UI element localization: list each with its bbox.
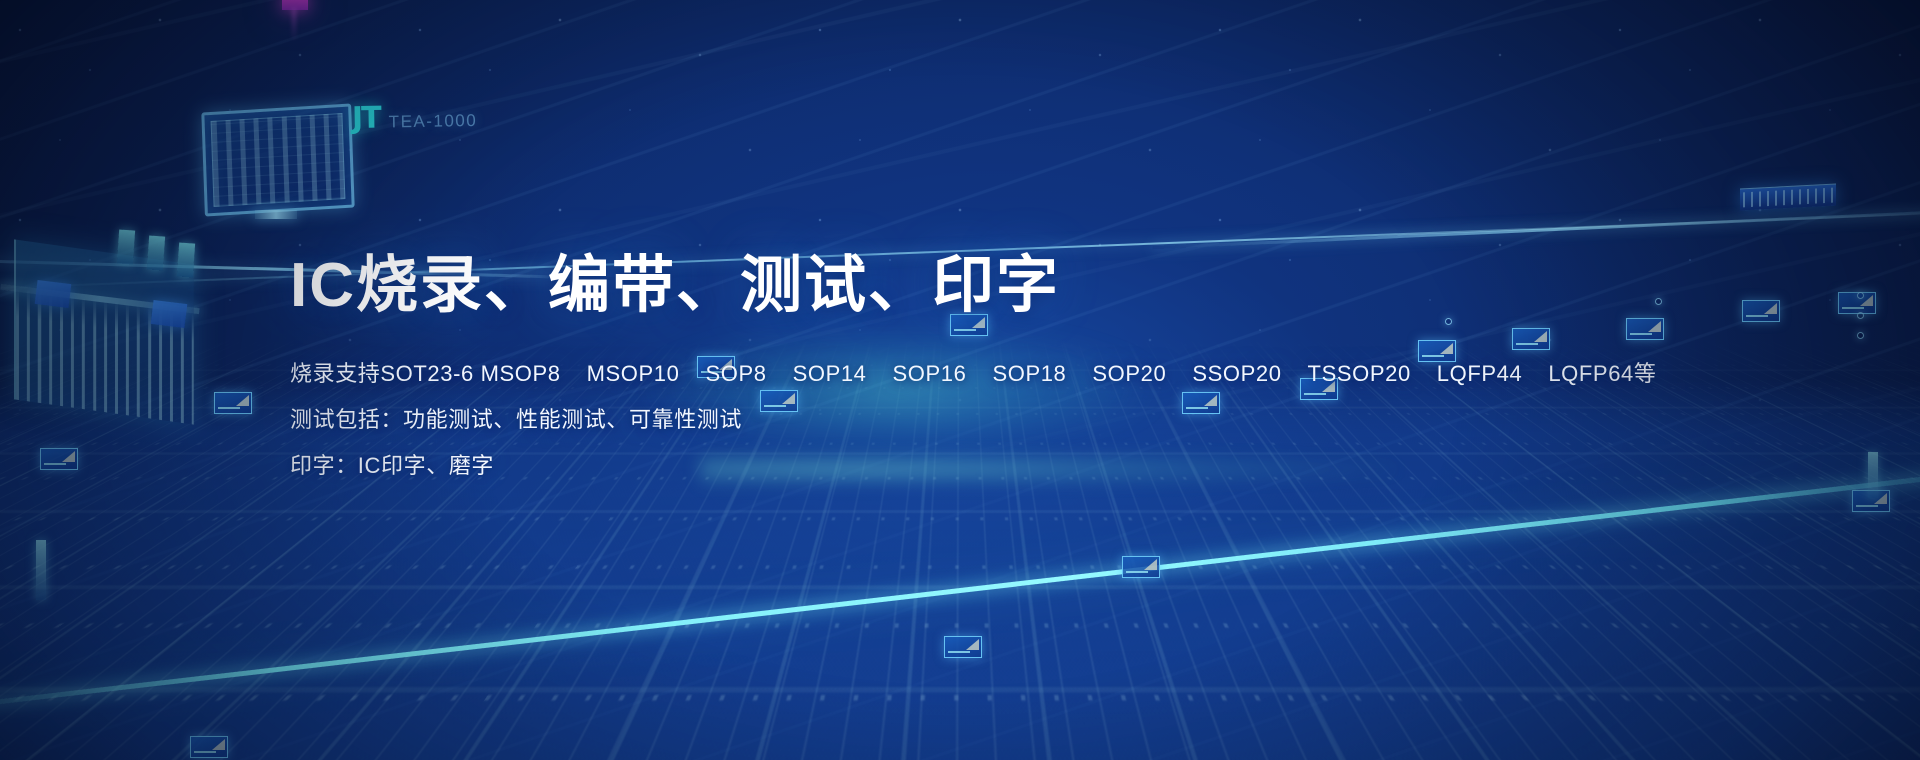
package-tag: SOP16 — [893, 359, 967, 389]
floating-chip-panel — [1626, 318, 1664, 340]
banner-copy-block: IC烧录、编带、测试、印字 烧录支持SOT23-6 MSOP8MSOP10SOP… — [290, 250, 1610, 480]
magenta-light-beam — [292, 8, 296, 42]
monitor-stand — [255, 210, 297, 219]
status-dot — [1857, 332, 1864, 339]
status-dot — [1857, 312, 1864, 319]
floating-chip-panel — [944, 636, 982, 658]
package-tag: SOP18 — [992, 359, 1066, 389]
test-scope-line: 测试包括：功能测试、性能测试、可靠性测试 — [290, 405, 1610, 435]
banner-subtitle-list: 烧录支持SOT23-6 MSOP8MSOP10SOP8SOP14SOP16SOP… — [290, 359, 1610, 480]
floating-chip-panel — [190, 736, 228, 758]
server-rack — [1740, 183, 1836, 210]
floating-chip-panel — [1742, 300, 1780, 322]
machine-nozzle — [147, 235, 165, 270]
vertical-pillar — [1868, 452, 1878, 498]
package-tag: LQFP64等 — [1548, 359, 1656, 389]
hero-banner: JT TEA-1000 IC烧录、编带、测试、印字 烧录支持SOT23-6 MS… — [0, 0, 1920, 760]
marking-scope-line: 印字：IC印字、磨字 — [290, 451, 1610, 481]
status-dot — [1857, 292, 1864, 299]
monitor-display — [201, 103, 354, 216]
machine-fins — [16, 240, 194, 425]
package-tag: TSSOP20 — [1308, 359, 1411, 389]
machine-nozzle — [117, 229, 135, 264]
monitor-screen-content — [211, 113, 346, 207]
floating-chip-panel — [40, 448, 78, 470]
equipment-brand-mark: JT TEA-1000 — [352, 99, 478, 136]
machine-module-box — [35, 280, 72, 308]
package-tag: SOP8 — [705, 359, 766, 389]
burn-support-prefix: 烧录支持SOT23-6 — [290, 361, 474, 386]
package-list: MSOP8MSOP10SOP8SOP14SOP16SOP18SOP20SSOP2… — [481, 359, 1657, 389]
package-tag: SSOP20 — [1192, 359, 1281, 389]
equipment-model-text: TEA-1000 — [389, 111, 478, 133]
floating-chip-panel — [214, 392, 252, 414]
machine-module-box — [151, 300, 188, 328]
floating-chip-panel — [1122, 556, 1160, 578]
page-title: IC烧录、编带、测试、印字 — [290, 250, 1610, 321]
burn-support-line: 烧录支持SOT23-6 MSOP8MSOP10SOP8SOP14SOP16SOP… — [290, 359, 1610, 389]
package-tag: LQFP44 — [1437, 359, 1523, 389]
package-tag: SOP14 — [793, 359, 867, 389]
package-tag: MSOP10 — [587, 359, 680, 389]
brand-logo-text: JT — [352, 101, 380, 136]
status-dot — [1655, 298, 1662, 305]
industrial-machine — [14, 239, 194, 424]
package-tag: SOP20 — [1092, 359, 1166, 389]
rack-indicator-lines — [1743, 188, 1833, 208]
package-tag: MSOP8 — [481, 359, 561, 389]
machine-nozzle — [177, 242, 195, 277]
vertical-pillar — [36, 540, 46, 600]
